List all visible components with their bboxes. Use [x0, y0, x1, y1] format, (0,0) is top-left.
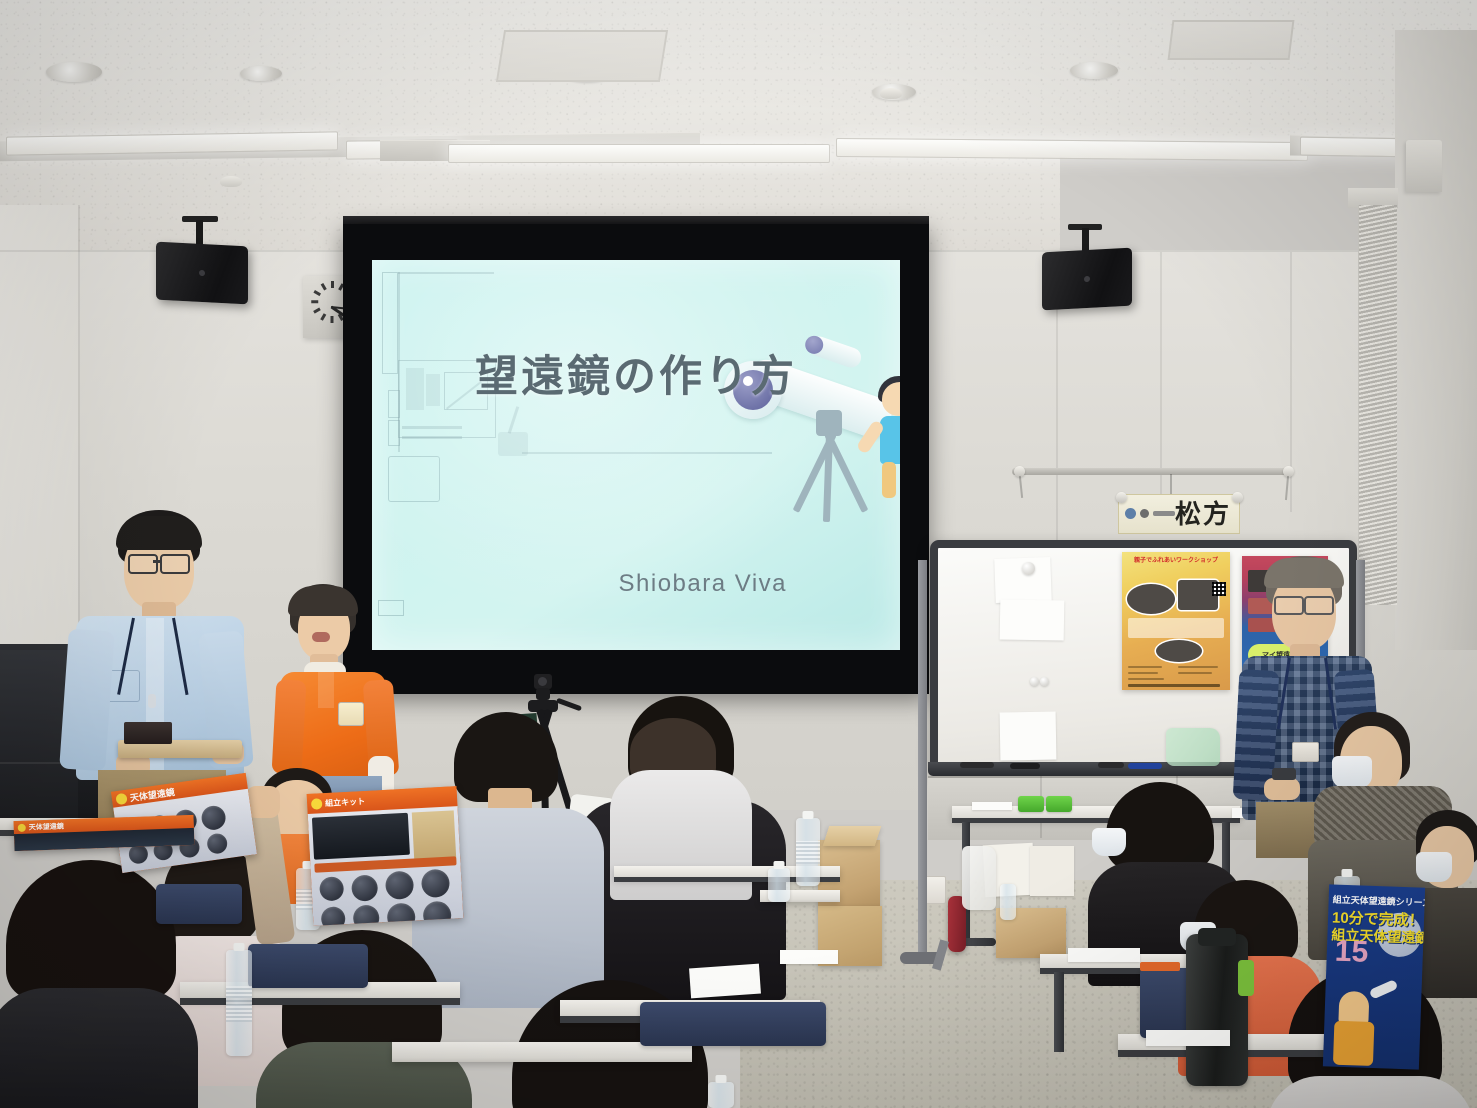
tape-roll	[1018, 796, 1044, 812]
whiteboard-stand-pole	[918, 560, 927, 960]
tripod-head	[536, 688, 550, 700]
hair-top	[116, 516, 202, 550]
whiteboard-note	[1000, 599, 1065, 640]
water-bottle[interactable]	[708, 1082, 734, 1108]
room-sign-label: 松方	[1175, 501, 1231, 527]
torso	[0, 988, 198, 1108]
kit-box-title: 天体望遠鏡	[29, 821, 64, 832]
qr-code-icon	[1212, 582, 1226, 596]
thermos-cap	[1198, 928, 1236, 946]
ghost-shape	[402, 436, 462, 439]
window-blinds	[1358, 205, 1397, 605]
table-paper	[972, 802, 1012, 810]
poster-text-band	[1128, 618, 1224, 638]
polo-placket	[318, 672, 334, 708]
magnet-icon	[1022, 562, 1035, 575]
glasses-icon	[128, 554, 158, 574]
chair[interactable]	[640, 1002, 826, 1046]
wall-bracket-icon	[1406, 140, 1442, 192]
glasses-bridge	[153, 560, 161, 563]
chair[interactable]	[156, 884, 242, 924]
whiteboard-marker[interactable]	[1010, 763, 1040, 769]
child-leg-icon	[882, 462, 896, 498]
sign-hook-icon	[1232, 492, 1243, 503]
magnet-icon	[1040, 677, 1049, 686]
handout-paper[interactable]	[689, 964, 761, 999]
sign-logo-icons	[1125, 508, 1175, 519]
lanyard-clip	[148, 694, 156, 708]
kit-blue-number: 15	[1334, 937, 1368, 968]
handout-paper[interactable]	[1068, 948, 1140, 962]
projection-screen: 望遠鏡の作り方 Shiobara Viva	[343, 224, 929, 694]
arm-left	[272, 679, 307, 774]
wristwatch-icon	[1272, 768, 1296, 780]
whiteboard-handout	[1000, 712, 1057, 761]
poster-photo	[1156, 640, 1202, 662]
face-mask	[1332, 756, 1372, 788]
cardboard-box-flap	[823, 826, 881, 846]
presentation-slide: 望遠鏡の作り方 Shiobara Viva	[372, 260, 900, 650]
black-thermos-bottle[interactable]	[1186, 934, 1248, 1086]
handout-paper[interactable]	[780, 950, 838, 964]
smoke-detector-icon	[880, 88, 902, 99]
kit-box-badge-icon	[311, 798, 323, 810]
wall-pillar-right	[1395, 30, 1477, 650]
tape-roll	[1046, 796, 1072, 812]
kit-illustration-body	[1333, 1021, 1375, 1066]
plastic-bag	[1166, 728, 1220, 766]
ceiling-vent-icon	[496, 30, 668, 82]
downlight-icon	[240, 66, 282, 81]
handout-paper[interactable]	[1146, 1030, 1230, 1046]
table-leg	[1054, 972, 1064, 1052]
sign-hook-icon	[1116, 492, 1127, 503]
water-bottle	[1000, 884, 1016, 920]
torso-grey	[1266, 1076, 1474, 1108]
magnet-icon	[1030, 677, 1039, 686]
water-bottle[interactable]	[226, 950, 252, 1056]
mouth	[312, 632, 330, 642]
audience-table-front-left-edge	[180, 998, 460, 1005]
child-body-icon	[880, 416, 900, 464]
whiteboard-marker-blue[interactable]	[1128, 763, 1162, 769]
wall-hanging-rail	[1012, 468, 1294, 475]
camera-icon	[534, 674, 552, 689]
ceiling-vent-icon	[1168, 20, 1295, 60]
speaker-mount	[196, 220, 203, 246]
ghost-shape	[388, 420, 400, 446]
smoke-detector-icon	[220, 176, 242, 187]
power-outlet-icon	[925, 876, 946, 904]
ghost-shape	[508, 406, 520, 434]
thermos-clip	[1238, 960, 1254, 996]
whiteboard-marker[interactable]	[960, 762, 994, 768]
glasses-icon	[1274, 596, 1304, 615]
ghost-shape	[522, 452, 772, 454]
slide-author: Shiobara Viva	[619, 570, 788, 598]
orange-label-strip	[1140, 962, 1180, 971]
telescope-kit-box-blue[interactable]: 組立天体望遠鏡シリーズ! 10分で完成！ 組立天体望遠鏡 15	[1323, 884, 1425, 1069]
glasses-icon	[1304, 596, 1334, 615]
room-sign-matsukata: 松方	[1118, 494, 1240, 534]
ceiling-speaker-right	[1042, 248, 1132, 311]
whiteboard-marker[interactable]	[1098, 762, 1124, 768]
hand-left	[1264, 778, 1300, 800]
kit-box-badge-icon	[115, 792, 127, 804]
ghost-shape	[402, 426, 462, 429]
stored-sign	[1030, 846, 1074, 896]
ghost-shape	[398, 272, 494, 274]
wall-seam	[1160, 252, 1162, 502]
ghost-shape	[388, 456, 440, 502]
glasses-icon	[160, 554, 190, 574]
hair-top	[288, 586, 358, 616]
classroom-photo: 望遠鏡の作り方 Shiobara Viva 松方 親子でふれあいワークショップ	[0, 0, 1477, 1108]
downlight-icon	[1070, 62, 1118, 79]
hair-top	[1264, 558, 1344, 588]
water-bottle[interactable]	[768, 868, 790, 902]
speaker-mount	[1082, 228, 1089, 252]
kit-illustration-telescope	[1369, 979, 1399, 1000]
water-bottle[interactable]	[796, 818, 820, 886]
table-foot	[962, 938, 996, 946]
face-mask	[1416, 852, 1452, 882]
slide-title: 望遠鏡の作り方	[372, 342, 900, 404]
poster-photo	[1127, 584, 1175, 614]
kit-parts-photo	[312, 813, 410, 860]
kit-box-title: 組立キット	[325, 795, 366, 808]
hair	[1106, 782, 1214, 870]
ceiling-speaker-left	[156, 242, 248, 305]
kit-box-window	[308, 806, 464, 926]
poster-workshop: 親子でふれあいワークショップ	[1122, 552, 1230, 690]
chair[interactable]	[248, 944, 368, 988]
arm-left	[59, 629, 115, 772]
poster-workshop-heading: 親子でふれあいワークショップ	[1126, 557, 1226, 582]
face-mask	[1092, 828, 1126, 856]
hair	[6, 860, 176, 1000]
kit-parts-photo	[124, 722, 172, 744]
kit-box-badge-icon	[18, 823, 26, 831]
white-bag	[962, 846, 996, 910]
downlight-icon	[46, 62, 102, 82]
ceiling-strip-light	[448, 144, 830, 163]
telescope-kit-box-orange[interactable]: 組立キット	[307, 786, 464, 926]
name-sticker	[338, 702, 364, 726]
telescope-kit-box-orange[interactable]: 天体望遠鏡	[14, 815, 195, 851]
